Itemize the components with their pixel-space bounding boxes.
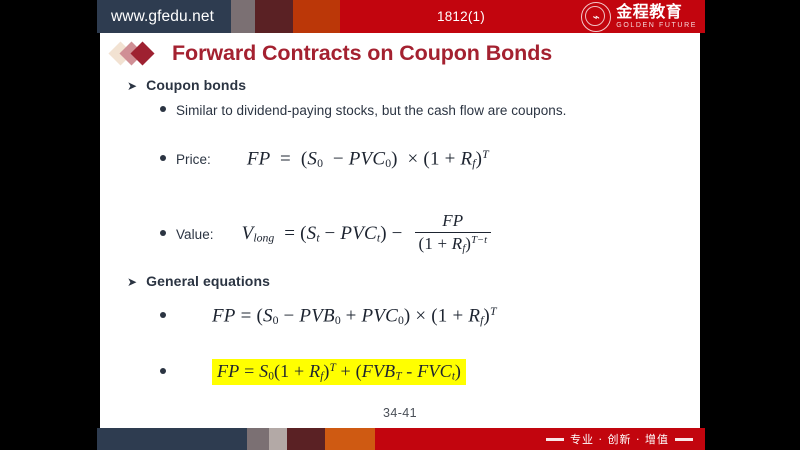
footer-band-orange [325, 428, 375, 450]
slide-screenshot: www.gfedu.net 1812(1) ⌁ 金程教育 GOLDEN FUTU… [0, 0, 800, 450]
price-label: Price: [176, 152, 211, 167]
dot-bullet-icon [160, 230, 166, 236]
section-heading-general-equations: ➤ General equations [127, 273, 270, 289]
section-heading-label: General equations [146, 273, 270, 289]
banner-band-navy: www.gfedu.net [97, 0, 231, 33]
value-label: Value: [176, 227, 214, 242]
brand-name-cn: 金程教育 [616, 4, 697, 20]
formula-general-2-highlighted: FP = S0(1 + Rf)T + (FVBT - FVCt) [212, 359, 466, 385]
seal-glyph-icon: ⌁ [582, 3, 610, 31]
slide-title-row: Forward Contracts on Coupon Bonds [112, 41, 552, 66]
page-title: Forward Contracts on Coupon Bonds [172, 41, 552, 66]
dot-bullet-icon [160, 368, 166, 374]
footer-band-gray [247, 428, 269, 450]
bottom-banner: 专业 · 创新 · 增值 [97, 428, 705, 450]
banner-band-orange [293, 0, 340, 33]
brand-name-en: GOLDEN FUTURE [616, 22, 697, 29]
dot-bullet-icon [160, 155, 166, 161]
dot-bullet-icon [160, 312, 166, 318]
diamond-bullets-icon [112, 42, 164, 66]
footer-band-red: 专业 · 创新 · 增值 [375, 428, 705, 450]
slide-canvas: Forward Contracts on Coupon Bonds ➤ Coup… [100, 33, 700, 428]
footer-band-navy [97, 428, 247, 450]
seal-badge-icon: ⌁ [581, 2, 611, 32]
site-url-label: www.gfedu.net [111, 8, 214, 26]
formula-general-1: FP = (S0 − PVB0 + PVC0) × (1 + Rf)T [212, 305, 496, 328]
deck-code-label: 1812(1) [437, 0, 485, 33]
section-heading-coupon-bonds: ➤ Coupon bonds [127, 77, 246, 93]
slogan-label: 专业 · 创新 · 增值 [570, 431, 669, 447]
brand-logo: ⌁ 金程教育 GOLDEN FUTURE [581, 0, 697, 33]
top-banner: www.gfedu.net 1812(1) ⌁ 金程教育 GOLDEN FUTU… [97, 0, 705, 33]
formula-value: Vlong = (St − PVCt) − FP (1 + Rf)T−t [242, 213, 493, 256]
list-item-price-formula: Price: FP = (S0 − PVC0) × (1 + Rf)T [160, 148, 489, 171]
banner-band-maroon [255, 0, 293, 33]
list-item-general-equation-2: FP = S0(1 + Rf)T + (FVBT - FVCt) [160, 359, 466, 385]
slogan-dash-right-icon [675, 438, 693, 441]
fraction-numerator: FP [438, 211, 467, 232]
slide-body: ➤ Coupon bonds Similar to dividend-payin… [100, 73, 700, 428]
dot-bullet-icon [160, 106, 166, 112]
banner-band-gray [231, 0, 255, 33]
fraction-denominator: (1 + Rf)T−t [415, 232, 492, 254]
page-number: 34-41 [100, 406, 700, 420]
brand-text: 金程教育 GOLDEN FUTURE [616, 4, 697, 29]
formula-price: FP = (S0 − PVC0) × (1 + Rf)T [247, 148, 489, 171]
list-item-general-equation-1: FP = (S0 − PVB0 + PVC0) × (1 + Rf)T [160, 305, 496, 328]
list-item-label: Similar to dividend-paying stocks, but t… [176, 103, 566, 118]
fraction-fp-over-discount: FP (1 + Rf)T−t [415, 211, 492, 254]
footer-band-maroon [287, 428, 325, 450]
arrow-bullet-icon: ➤ [127, 276, 137, 288]
section-heading-label: Coupon bonds [146, 77, 246, 93]
slogan-dash-left-icon [546, 438, 564, 441]
list-item-value-formula: Value: Vlong = (St − PVCt) − FP (1 + Rf)… [160, 213, 493, 256]
arrow-bullet-icon: ➤ [127, 80, 137, 92]
footer-slogan: 专业 · 创新 · 增值 [546, 431, 693, 447]
footer-band-light-gray [269, 428, 287, 450]
list-item-similar-stocks: Similar to dividend-paying stocks, but t… [160, 103, 566, 118]
